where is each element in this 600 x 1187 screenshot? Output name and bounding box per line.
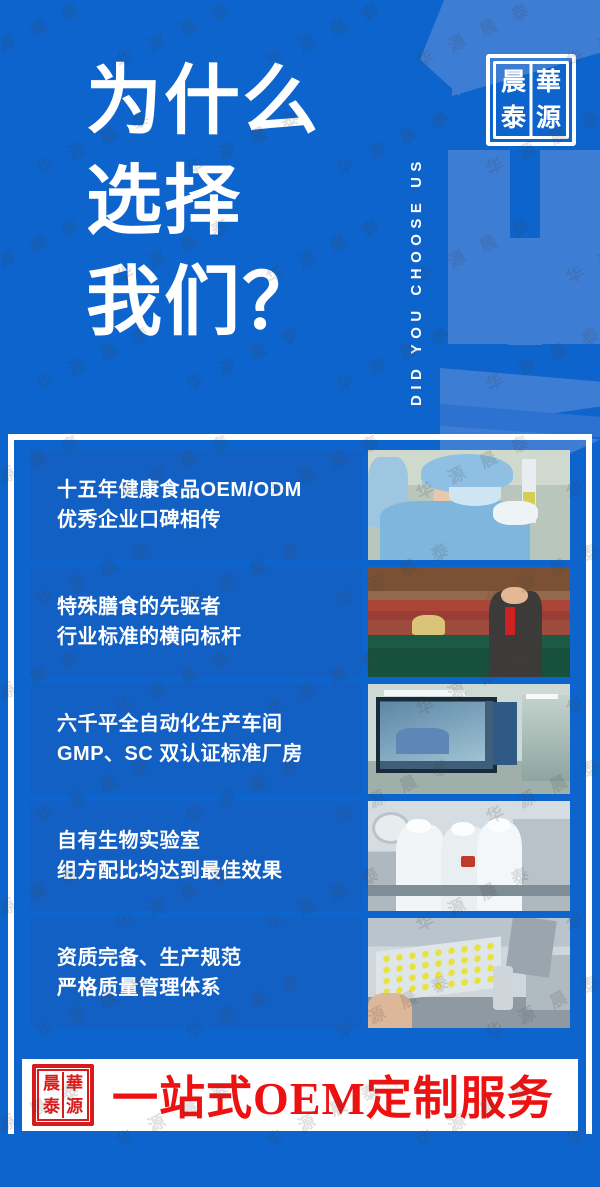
- feature-card: 六千平全自动化生产车间 GMP、SC 双认证标准厂房: [30, 684, 570, 794]
- watermark-text: 华 源 晨 泰: [0, 0, 89, 72]
- feature-card-list: 十五年健康食品OEM/ODM 优秀企业口碑相传 特殊膳食的先驱者 行业标准的横向…: [30, 450, 570, 1035]
- decor-zigzag-upper: [440, 368, 600, 430]
- lab-technician-photo: [368, 450, 570, 560]
- decor-h-crossbar: [448, 238, 600, 290]
- watermark-text: 华 源 晨 泰: [31, 1181, 159, 1187]
- content-frame-right: [586, 434, 592, 1134]
- footer-seal-char-2: 華: [63, 1072, 86, 1095]
- footer-seal-char-4: 源: [63, 1095, 86, 1118]
- page-title-line-3: 我们？: [86, 253, 386, 353]
- feature-line-2: 严格质量管理体系: [57, 973, 362, 1003]
- decor-h-left-stem: [448, 150, 510, 270]
- watermark-text: 华 源 晨 泰: [0, 1181, 9, 1187]
- feature-line-2: 行业标准的横向标杆: [57, 622, 362, 652]
- watermark-text: 华 源 晨 泰: [561, 209, 600, 288]
- feature-card-text: 十五年健康食品OEM/ODM 优秀企业口碑相传: [30, 450, 362, 560]
- production-line-workers-photo: [368, 801, 570, 911]
- watermark-text: 华 源 晨 泰: [181, 1181, 309, 1187]
- watermark-text: 华 源 晨 泰: [0, 101, 9, 180]
- content-frame-top: [8, 434, 592, 440]
- footer-seal-char-3: 泰: [40, 1095, 63, 1118]
- feature-card-text: 资质完备、生产规范 严格质量管理体系: [30, 918, 362, 1028]
- feature-line-1: 特殊膳食的先驱者: [57, 592, 362, 622]
- footer-banner: 晨 華 泰 源 一站式OEM定制服务: [22, 1059, 578, 1131]
- brand-seal-logo: 晨 華 泰 源: [486, 54, 576, 146]
- footer-seal-char-1: 晨: [40, 1072, 63, 1095]
- footer-seal-character-grid: 晨 華 泰 源: [40, 1072, 86, 1118]
- feature-line-1: 资质完备、生产规范: [57, 943, 362, 973]
- watermark-text: 华 源 晨 泰: [0, 317, 9, 396]
- page-title: 为什么 选择 我们？: [86, 52, 386, 353]
- decor-h-right-stem: [540, 150, 600, 270]
- decor-zigzag-accent: [440, 404, 600, 438]
- seal-char-1: 晨: [496, 64, 531, 100]
- feature-card: 资质完备、生产规范 严格质量管理体系: [30, 918, 570, 1028]
- feature-card: 特殊膳食的先驱者 行业标准的横向标杆: [30, 567, 570, 677]
- feature-line-1: 自有生物实验室: [57, 826, 362, 856]
- conference-audience-photo: [368, 567, 570, 677]
- feature-card-text: 特殊膳食的先驱者 行业标准的横向标杆: [30, 567, 362, 677]
- poster-root: 为什么 选择 我们？ DID YOU CHOOSE US 晨 華 泰 源 十五年…: [0, 0, 600, 1187]
- feature-line-2: 优秀企业口碑相传: [57, 505, 362, 535]
- footer-seal-logo: 晨 華 泰 源: [32, 1064, 94, 1126]
- footer-slogan: 一站式OEM定制服务: [94, 1062, 578, 1128]
- seal-char-4: 源: [531, 100, 566, 136]
- feature-line-2: 组方配比均达到最佳效果: [57, 856, 362, 886]
- feature-line-1: 十五年健康食品OEM/ODM: [57, 475, 362, 505]
- watermark-text: 华 源 晨 泰: [481, 1181, 600, 1187]
- content-frame-left: [8, 434, 14, 1134]
- cleanroom-corridor-photo: [368, 684, 570, 794]
- watermark-text: 华 源 晨 泰: [331, 1181, 459, 1187]
- page-title-line-2: 选择: [86, 152, 386, 252]
- feature-card: 十五年健康食品OEM/ODM 优秀企业口碑相传: [30, 450, 570, 560]
- decor-w-left-wedge: [420, 0, 460, 96]
- vertical-subtitle: DID YOU CHOOSE US: [397, 14, 425, 406]
- feature-line-1: 六千平全自动化生产车间: [57, 709, 362, 739]
- feature-line-2: GMP、SC 双认证标准厂房: [57, 739, 362, 769]
- seal-char-3: 泰: [496, 100, 531, 136]
- watermark-text: 华 源 晨 泰: [411, 209, 539, 288]
- feature-card: 自有生物实验室 组方配比均达到最佳效果: [30, 801, 570, 911]
- watermark-text: 华 源 晨 泰: [481, 317, 600, 396]
- seal-character-grid: 晨 華 泰 源: [496, 64, 566, 136]
- watermark-text: 华 源 晨 泰: [0, 209, 89, 288]
- page-title-line-1: 为什么: [86, 52, 386, 152]
- blister-packing-machine-photo: [368, 918, 570, 1028]
- feature-card-text: 六千平全自动化生产车间 GMP、SC 双认证标准厂房: [30, 684, 362, 794]
- decor-y-stem: [508, 270, 542, 345]
- feature-card-text: 自有生物实验室 组方配比均达到最佳效果: [30, 801, 362, 911]
- decor-y-crossbar: [448, 290, 600, 344]
- seal-char-2: 華: [531, 64, 566, 100]
